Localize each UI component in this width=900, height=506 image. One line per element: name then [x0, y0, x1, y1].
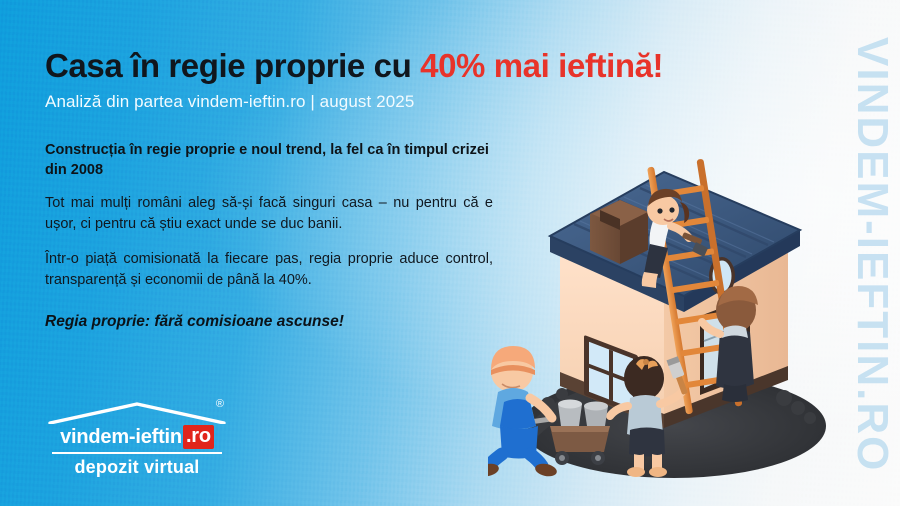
logo-subtitle: depozit virtual: [44, 457, 230, 478]
subtitle-source-date: Analiză din partea vindem-ieftin.ro | au…: [45, 92, 515, 112]
headline-part-1: Casa în regie proprie cu: [45, 47, 420, 84]
text-column: Casa în regie proprie cu 40% mai ieftină…: [45, 48, 515, 331]
tagline: Regia proprie: fără comisioane ascunse!: [45, 313, 493, 331]
house-illustration: [488, 126, 840, 486]
lead-paragraph: Construcția în regie proprie e noul tren…: [45, 140, 493, 180]
logo-tld-badge: .ro: [183, 425, 214, 449]
logo-name-text: vindem-ieftin: [60, 426, 182, 449]
poster-canvas: VINDEM-IEFTIN.RO: [0, 0, 900, 506]
headline-accent: 40% mai ieftină!: [420, 47, 663, 84]
body-copy: Construcția în regie proprie e noul tren…: [45, 140, 493, 331]
page-title: Casa în regie proprie cu 40% mai ieftină…: [45, 48, 515, 85]
brand-logo[interactable]: ® vindem-ieftin.ro depozit virtual: [44, 402, 230, 478]
paragraph-2: Într-o piață comisionată la fiecare pas,…: [45, 249, 493, 292]
logo-divider: [52, 452, 222, 454]
paragraph-1: Tot mai mulți români aleg să-și facă sin…: [45, 193, 493, 236]
logo-wordmark: vindem-ieftin.ro: [44, 425, 230, 449]
roof-icon: [44, 402, 230, 424]
